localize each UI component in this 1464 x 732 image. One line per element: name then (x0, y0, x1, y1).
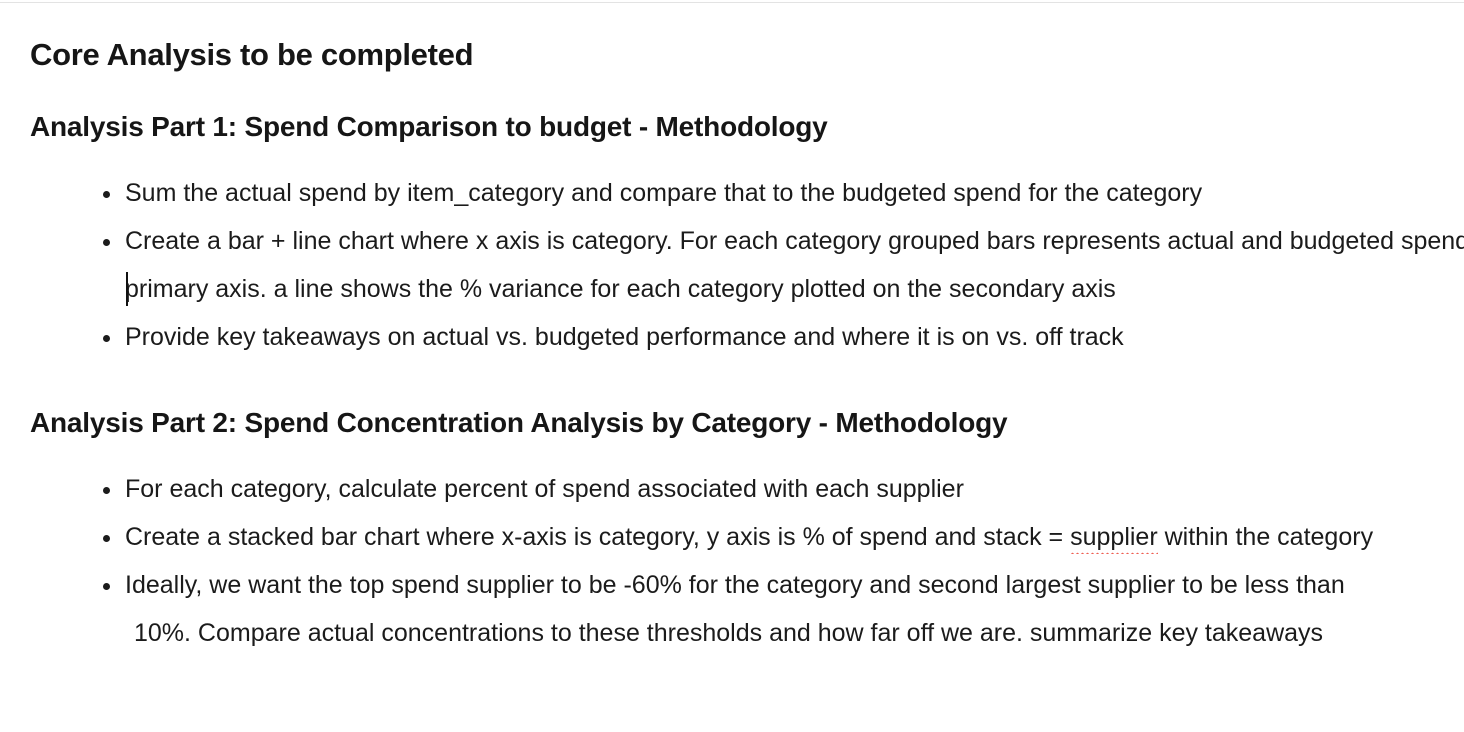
list-item-text: Ideally, we want the top spend supplier … (125, 571, 1345, 599)
list-item-text-post: within the category (1158, 523, 1373, 551)
list-item-text-pre: Create a stacked bar chart where x-axis … (125, 523, 1070, 551)
spellcheck-misspelled-word[interactable]: supplier (1070, 523, 1158, 554)
document-viewport: Core Analysis to be completed Analysis P… (0, 0, 1464, 732)
list-item[interactable]: For each category, calculate percent of … (30, 465, 1464, 513)
list-item-text: Provide key takeaways on actual vs. budg… (125, 323, 1124, 351)
text-caret (126, 272, 128, 306)
list-item[interactable]: Provide key takeaways on actual vs. budg… (30, 313, 1464, 361)
list-item[interactable]: Sum the actual spend by item_category an… (30, 169, 1464, 217)
bullet-list-part-1: Sum the actual spend by item_category an… (30, 169, 1464, 361)
list-item[interactable]: Create a bar + line chart where x axis i… (30, 217, 1464, 265)
list-item-continuation-text: 10%. Compare actual concentrations to th… (134, 619, 1323, 647)
list-item[interactable]: Create a stacked bar chart where x-axis … (30, 513, 1464, 561)
document-body[interactable]: Core Analysis to be completed Analysis P… (0, 0, 1464, 657)
page-title: Core Analysis to be completed (30, 38, 1464, 73)
bullet-list-part-2: For each category, calculate percent of … (30, 465, 1464, 657)
section-heading-part-2: Analysis Part 2: Spend Concentration Ana… (30, 407, 1464, 439)
list-item-text: Sum the actual spend by item_category an… (125, 179, 1202, 207)
section-spacer (30, 361, 1464, 407)
list-item[interactable]: Ideally, we want the top spend supplier … (30, 561, 1464, 609)
list-item-text: Create a bar + line chart where x axis i… (125, 227, 1464, 255)
list-item-continuation-text: primary axis. a line shows the % varianc… (125, 275, 1116, 303)
list-item-text: For each category, calculate percent of … (125, 475, 964, 503)
section-heading-part-1: Analysis Part 1: Spend Comparison to bud… (30, 111, 1464, 143)
list-item-continuation[interactable]: 10%. Compare actual concentrations to th… (30, 609, 1464, 657)
list-item-continuation[interactable]: primary axis. a line shows the % varianc… (30, 265, 1464, 313)
